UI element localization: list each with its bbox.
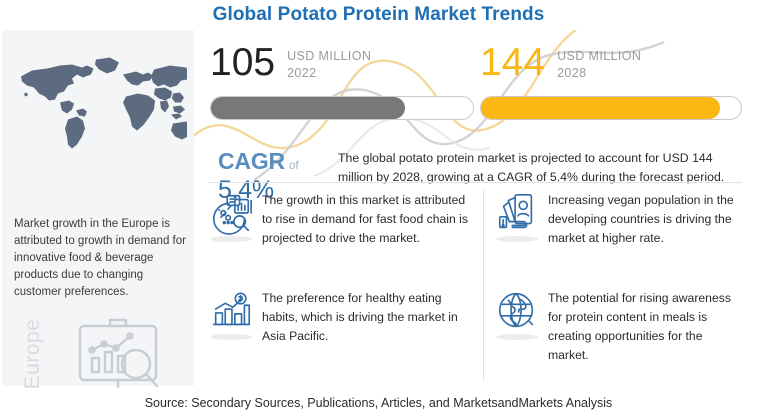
factor-text: The growth in this market is attributed … xyxy=(262,190,476,248)
infographic-root: Global Potato Protein Market Trends xyxy=(0,0,757,418)
hand-holding-documents-icon xyxy=(494,190,540,236)
sidebar-description: Market growth in the Europe is attribute… xyxy=(14,216,186,301)
factor-text: The preference for healthy eating habits… xyxy=(262,288,476,346)
stat-card-2028: 144 USD MILLION 2028 xyxy=(480,42,742,120)
vertical-divider xyxy=(483,190,484,380)
factor-item: Increasing vegan population in the devel… xyxy=(494,190,746,248)
stat-value: 105 xyxy=(210,42,275,84)
progress-bar-2022 xyxy=(210,96,474,120)
progress-bar-fill xyxy=(211,97,405,119)
factor-item: The preference for healthy eating habits… xyxy=(208,288,476,346)
stat-unit-label: USD MILLION xyxy=(557,48,641,65)
main-panel: 105 USD MILLION 2022 144 USD MILLION 202… xyxy=(194,30,755,386)
bar-chart-dollar-icon xyxy=(208,288,254,334)
horizontal-divider xyxy=(208,182,742,183)
world-map-icon xyxy=(12,48,187,158)
factor-text: The potential for rising awareness for p… xyxy=(548,288,746,365)
stat-head: 105 USD MILLION 2022 xyxy=(210,42,474,90)
stat-year: 2028 xyxy=(557,65,641,82)
stat-value: 144 xyxy=(480,42,545,84)
cagr-label: CAGR xyxy=(218,148,285,174)
stat-unit: USD MILLION 2022 xyxy=(287,48,371,82)
icon-shadow xyxy=(496,334,538,340)
icon-shadow xyxy=(210,236,252,242)
pie-chart-magnifier-icon xyxy=(208,190,254,236)
cagr-of-word: of xyxy=(289,158,299,172)
sidebar-region-panel: Market growth in the Europe is attribute… xyxy=(2,30,194,386)
footer-bar: Source: Secondary Sources, Publications,… xyxy=(0,388,757,418)
factor-text: Increasing vegan population in the devel… xyxy=(548,190,746,248)
region-label: Europe xyxy=(21,309,45,399)
stat-head: 144 USD MILLION 2028 xyxy=(480,42,742,90)
factor-item: The potential for rising awareness for p… xyxy=(494,288,746,365)
progress-bar-2028 xyxy=(480,96,742,120)
cagr-label-line: CAGRof xyxy=(218,148,338,175)
page-title: Global Potato Protein Market Trends xyxy=(213,4,545,26)
icon-shadow xyxy=(496,236,538,242)
stat-unit: USD MILLION 2028 xyxy=(557,48,641,82)
title-bar: Global Potato Protein Market Trends xyxy=(0,0,757,30)
icon-shadow xyxy=(210,334,252,340)
globe-icon xyxy=(494,288,540,334)
factor-item: The growth in this market is attributed … xyxy=(208,190,476,248)
source-text: Source: Secondary Sources, Publications,… xyxy=(145,396,613,410)
progress-bar-fill xyxy=(481,97,720,119)
stat-unit-label: USD MILLION xyxy=(287,48,371,65)
stat-year: 2022 xyxy=(287,65,371,82)
stat-card-2022: 105 USD MILLION 2022 xyxy=(210,42,474,120)
